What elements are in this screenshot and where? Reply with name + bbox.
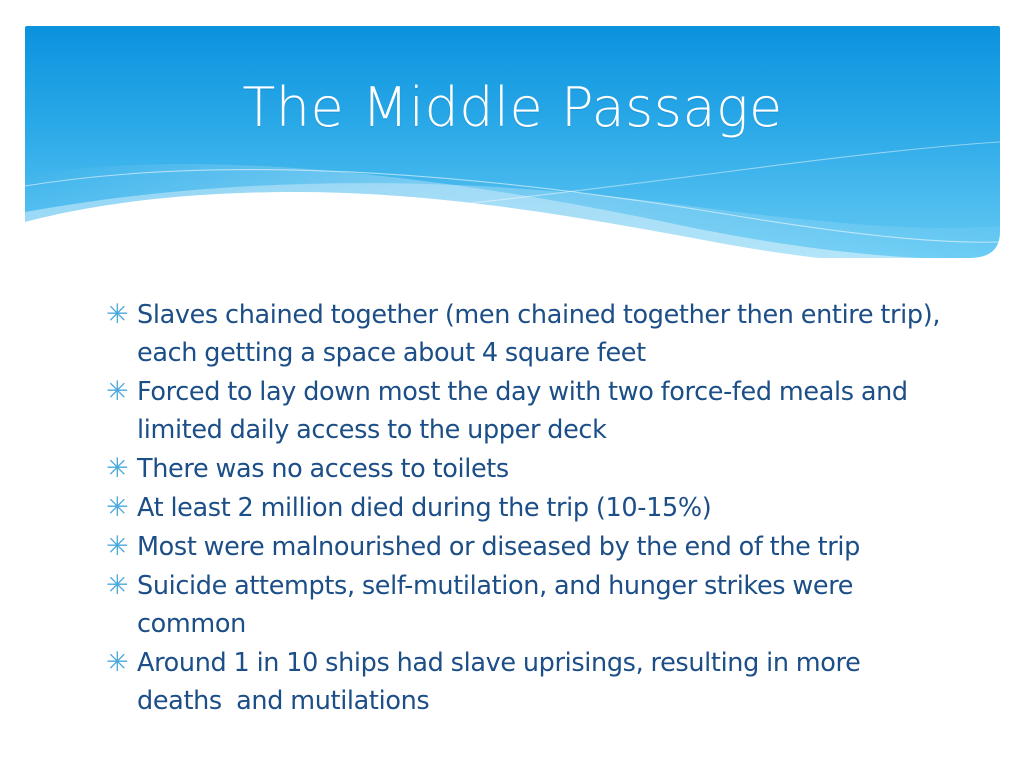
slide-title: The Middle Passage	[25, 70, 1000, 146]
presentation-slide: The Middle Passage ✳ Slaves chained toge…	[0, 0, 1024, 768]
six-pointed-asterisk-icon: ✳	[100, 528, 137, 566]
list-item: ✳ There was no access to toilets	[100, 450, 950, 488]
bullet-text: At least 2 million died during the trip …	[137, 489, 950, 527]
six-pointed-asterisk-icon: ✳	[100, 644, 137, 682]
slide-body-content: ✳ Slaves chained together (men chained t…	[100, 296, 950, 721]
list-item: ✳ Forced to lay down most the day with t…	[100, 373, 950, 449]
six-pointed-asterisk-icon: ✳	[100, 296, 137, 334]
six-pointed-asterisk-icon: ✳	[100, 373, 137, 411]
bullet-text: Forced to lay down most the day with two…	[137, 373, 950, 449]
six-pointed-asterisk-icon: ✳	[100, 489, 137, 527]
bullet-text: Most were malnourished or diseased by th…	[137, 528, 950, 566]
six-pointed-asterisk-icon: ✳	[100, 567, 137, 605]
list-item: ✳ Around 1 in 10 ships had slave uprisin…	[100, 644, 950, 720]
bullet-text: Slaves chained together (men chained tog…	[137, 296, 950, 372]
bullet-text: There was no access to toilets	[137, 450, 950, 488]
list-item: ✳ Slaves chained together (men chained t…	[100, 296, 950, 372]
six-pointed-asterisk-icon: ✳	[100, 450, 137, 488]
list-item: ✳ Suicide attempts, self-mutilation, and…	[100, 567, 950, 643]
list-item: ✳ Most were malnourished or diseased by …	[100, 528, 950, 566]
bullet-text: Suicide attempts, self-mutilation, and h…	[137, 567, 950, 643]
list-item: ✳ At least 2 million died during the tri…	[100, 489, 950, 527]
bullet-text: Around 1 in 10 ships had slave uprisings…	[137, 644, 950, 720]
